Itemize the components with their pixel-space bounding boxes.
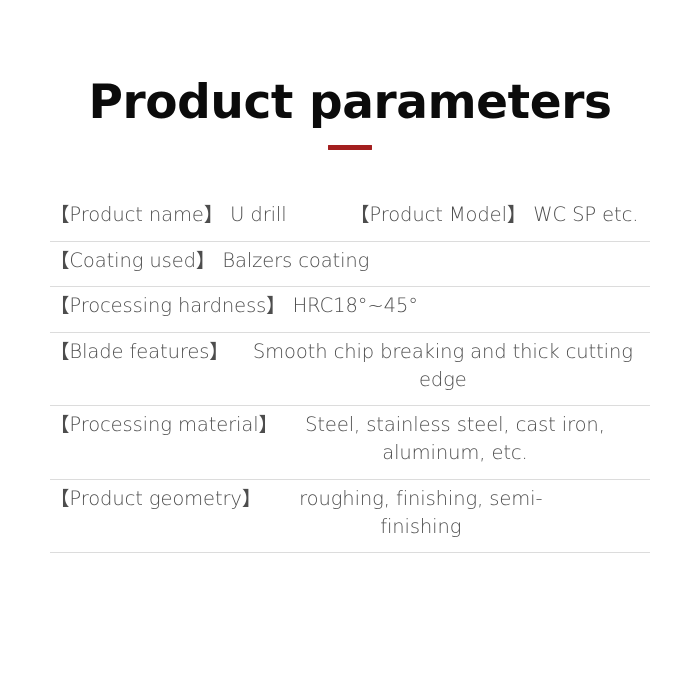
spec-cell-product-name: 【Product name】 U drill bbox=[50, 201, 350, 229]
table-row: 【Processing hardness】 HRC18°~45° bbox=[50, 287, 650, 333]
table-row: 【Product name】 U drill 【Product Model】 W… bbox=[50, 196, 650, 242]
spec-value: Smooth chip breaking and thick cutting e… bbox=[229, 338, 650, 393]
product-parameters-page: Product parameters 【Product name】 U dril… bbox=[0, 0, 700, 700]
spec-table: 【Product name】 U drill 【Product Model】 W… bbox=[50, 196, 650, 553]
title-accent-rule bbox=[328, 145, 372, 150]
spec-label: 【Product Model】 bbox=[350, 201, 526, 229]
spec-label: 【Product name】 bbox=[50, 201, 223, 229]
spec-cell-product-model: 【Product Model】 WC SP etc. bbox=[350, 201, 650, 229]
page-title: Product parameters bbox=[0, 78, 700, 127]
spec-value: Balzers coating bbox=[215, 247, 650, 275]
spec-label: 【Processing material】 bbox=[50, 411, 278, 439]
spec-value: Steel, stainless steel, cast iron, alumi… bbox=[278, 411, 625, 466]
table-row: 【Processing material】 Steel, stainless s… bbox=[50, 406, 650, 479]
table-row: 【Product geometry】 roughing, finishing, … bbox=[50, 480, 650, 553]
spec-value: WC SP etc. bbox=[526, 201, 650, 229]
spec-label: 【Blade features】 bbox=[50, 338, 229, 366]
spec-label: 【Processing hardness】 bbox=[50, 292, 286, 320]
spec-value: U drill bbox=[223, 201, 350, 229]
table-row: 【Blade features】 Smooth chip breaking an… bbox=[50, 333, 650, 406]
header: Product parameters bbox=[0, 78, 700, 150]
spec-value: HRC18°~45° bbox=[286, 292, 650, 320]
spec-label: 【Product geometry】 bbox=[50, 485, 261, 513]
table-row: 【Coating used】 Balzers coating bbox=[50, 242, 650, 288]
spec-label: 【Coating used】 bbox=[50, 247, 215, 275]
spec-value: roughing, finishing, semi-finishing bbox=[261, 485, 573, 540]
